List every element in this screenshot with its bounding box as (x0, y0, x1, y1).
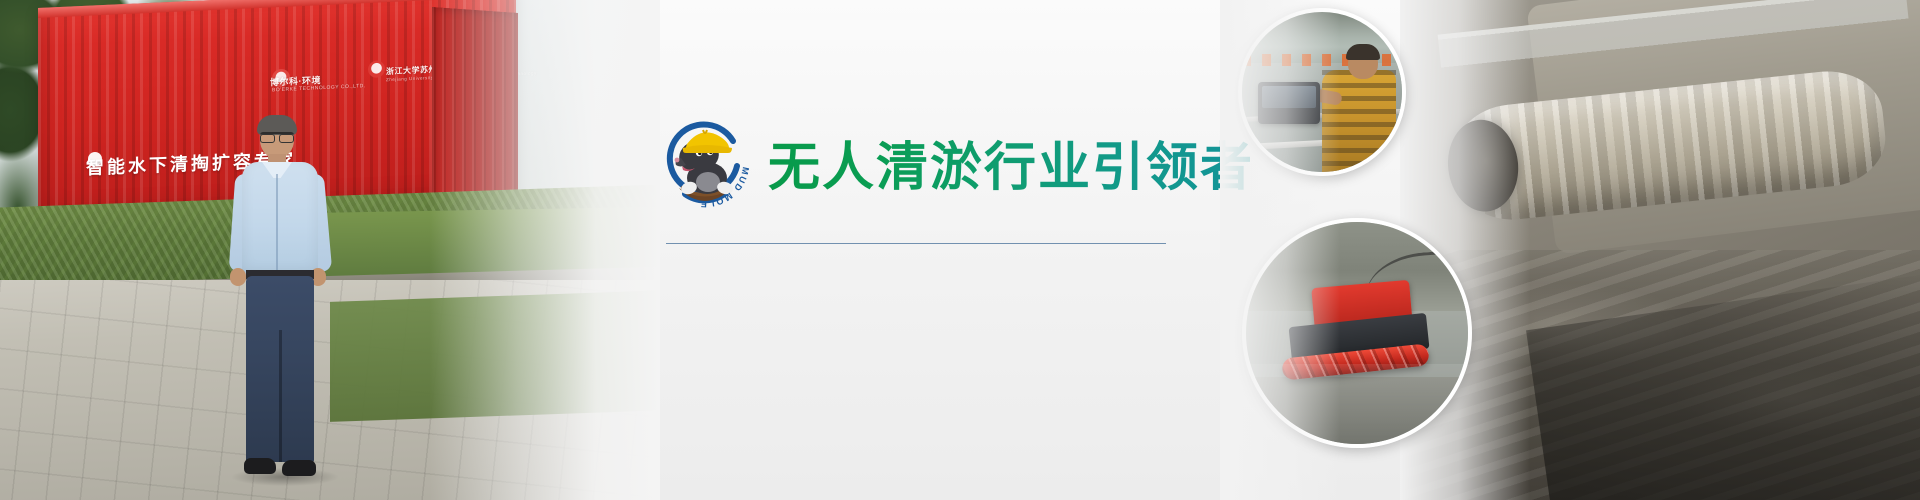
headline-divider (666, 243, 1166, 244)
person-left-hand (230, 268, 246, 286)
circular-photo-operator (1238, 8, 1406, 176)
mud-mole-logo: MUD MOLE (655, 108, 755, 208)
console-screen (1262, 86, 1316, 108)
left-photo-fade (430, 0, 660, 500)
control-console (1258, 82, 1320, 124)
operator-shirt-stripes (1322, 70, 1396, 172)
center-message-block: MUD MOLE 无人清淤行业引领者 (660, 0, 1280, 500)
person-shirt (242, 162, 318, 278)
operator-body (1322, 70, 1396, 172)
headline-text: 无人清淤行业引领者 (768, 125, 1254, 200)
person-shirt-placket (276, 174, 278, 272)
person-leg-divide (279, 330, 282, 462)
operator-vignette (1242, 12, 1402, 47)
mud-mole-logo-icon: MUD MOLE (655, 108, 755, 208)
engineer-person (226, 118, 336, 500)
person-glasses-icon (260, 132, 294, 139)
circular-photo-dredging-robot (1242, 218, 1472, 448)
right-photo-group (1220, 0, 1920, 500)
person-left-shoe (244, 458, 276, 474)
left-photo-container-site: 博尔科·环境 BO'ERKE TECHNOLOGY CO.,LTD. 浙江大学苏… (0, 0, 660, 500)
pipe-sludge-photo (1400, 0, 1920, 500)
hero-banner: 博尔科·环境 BO'ERKE TECHNOLOGY CO.,LTD. 浙江大学苏… (0, 0, 1920, 500)
robot-water-sheen (1246, 364, 1468, 444)
person-right-shoe (282, 460, 316, 476)
